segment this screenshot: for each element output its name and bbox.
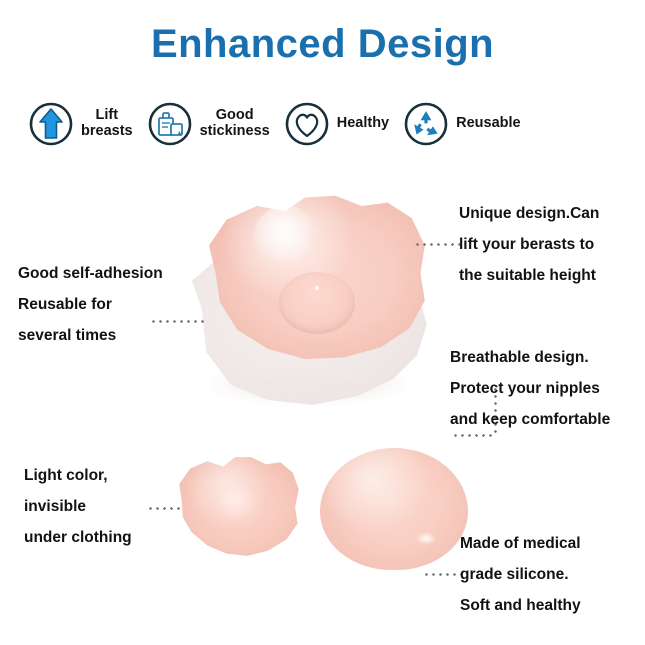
feature-label-good-stickiness: Good stickiness (200, 108, 270, 139)
feature-label-lift-breasts: Lift breasts (81, 108, 133, 139)
feature-item-healthy: Healthy (284, 101, 389, 147)
feature-item-lift-breasts: Lift breasts (28, 101, 133, 147)
leader-line-unique-design (414, 243, 460, 246)
callout-breathable: Breathable design. Protect your nipples … (450, 342, 645, 435)
product-center-dome (212, 485, 264, 527)
callout-light-color: Light color, invisible under clothing (24, 460, 204, 553)
feature-item-good-stickiness: Good stickiness (147, 101, 270, 147)
product-center-dot (315, 286, 319, 290)
callout-unique-design: Unique design.Can lift your berasts to t… (459, 198, 645, 291)
feature-item-reusable: Reusable (403, 101, 520, 147)
feature-label-healthy: Healthy (337, 116, 389, 132)
callout-self-adhesion: Good self-adhesion Reusable for several … (18, 258, 233, 351)
up-arrow-icon (28, 101, 74, 147)
product-dome-body (320, 448, 468, 570)
product-image-round-pad (320, 448, 468, 573)
page-title: Enhanced Design (0, 22, 645, 67)
adhesive-tape-icon (147, 101, 193, 147)
feature-row: Lift breasts Good stickiness (28, 96, 620, 152)
product-specular-highlight (416, 532, 436, 545)
product-center-dome (279, 272, 355, 334)
heart-icon (284, 101, 330, 147)
infographic-page: Enhanced Design Lift breasts (0, 0, 645, 645)
feature-label-reusable: Reusable (456, 116, 520, 132)
recycle-icon (403, 101, 449, 147)
callout-medical-grade: Made of medical grade silicone. Soft and… (460, 528, 645, 621)
leader-line-medical-grade (423, 573, 461, 576)
